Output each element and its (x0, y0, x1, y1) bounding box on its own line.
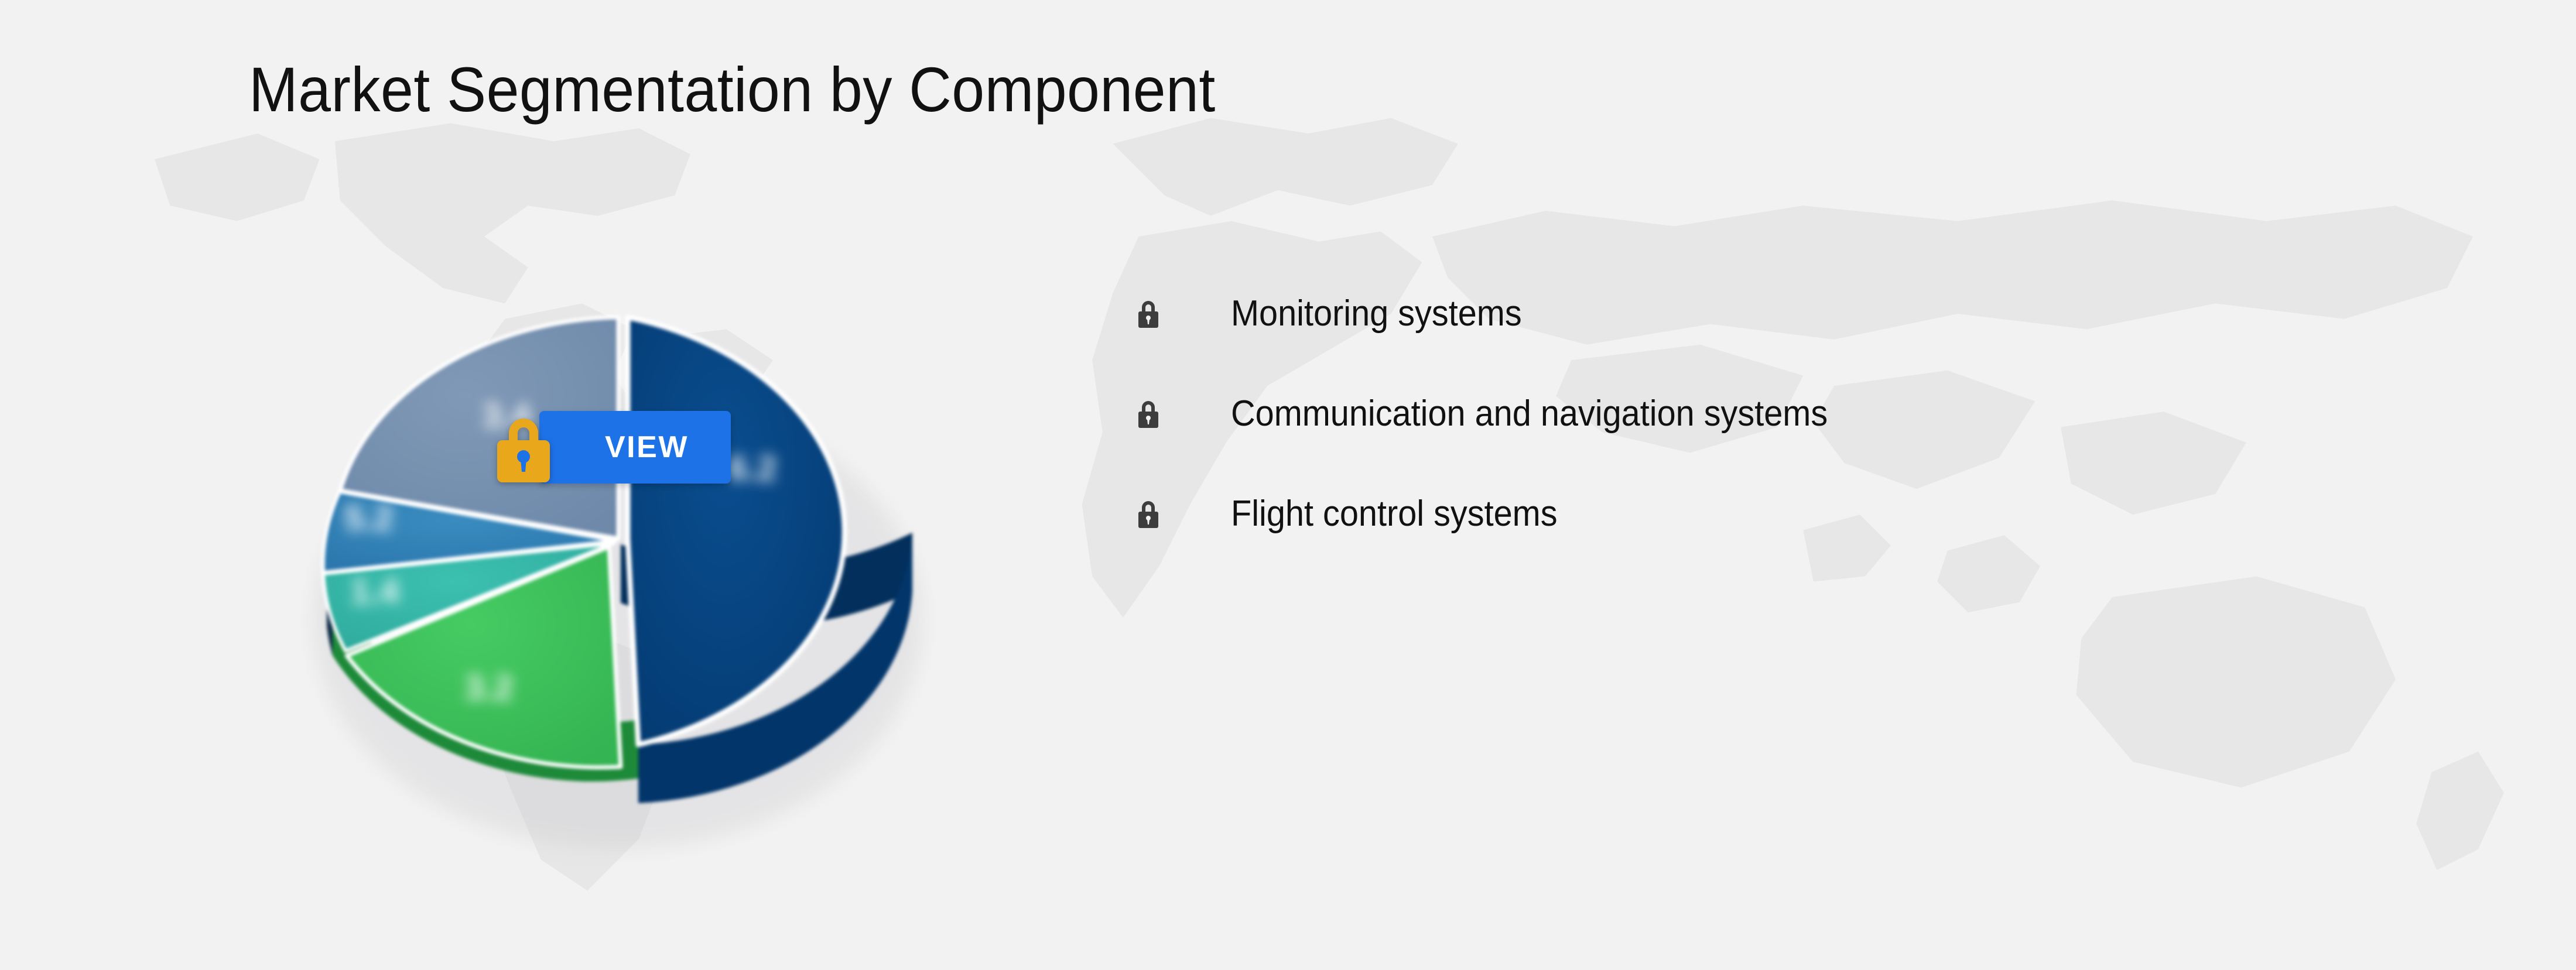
slice-value-green: 3.2 (464, 668, 513, 708)
page-title: Market Segmentation by Component (249, 56, 1216, 122)
slice-value-blue: 5.2 (344, 498, 393, 539)
legend-item-label: Flight control systems (1231, 493, 1558, 534)
legend-item-communication-and-navigation-systems[interactable]: Communication and navigation systems (1130, 393, 2418, 434)
locked-content-overlay[interactable]: VIEW (489, 410, 731, 485)
lock-icon (1130, 498, 1166, 530)
legend-item-monitoring-systems[interactable]: Monitoring systems (1130, 293, 2418, 334)
legend-item-flight-control-systems[interactable]: Flight control systems (1130, 493, 2418, 534)
padlock-icon (489, 410, 558, 485)
legend-item-label: Monitoring systems (1231, 293, 1522, 334)
legend: Monitoring systems Communication and nav… (1130, 293, 2418, 593)
legend-item-label: Communication and navigation systems (1231, 393, 1828, 434)
lock-icon (1130, 398, 1166, 430)
view-button[interactable]: VIEW (539, 411, 731, 484)
pie-slice-labels: 6.2 3.2 1.4 5.2 3.4 (176, 187, 1054, 890)
pie-chart: 6.2 3.2 1.4 5.2 3.4 (176, 187, 1054, 890)
lock-icon (1130, 298, 1166, 330)
slice-value-navy: 6.2 (728, 448, 776, 489)
slice-value-teal: 1.4 (350, 571, 399, 612)
